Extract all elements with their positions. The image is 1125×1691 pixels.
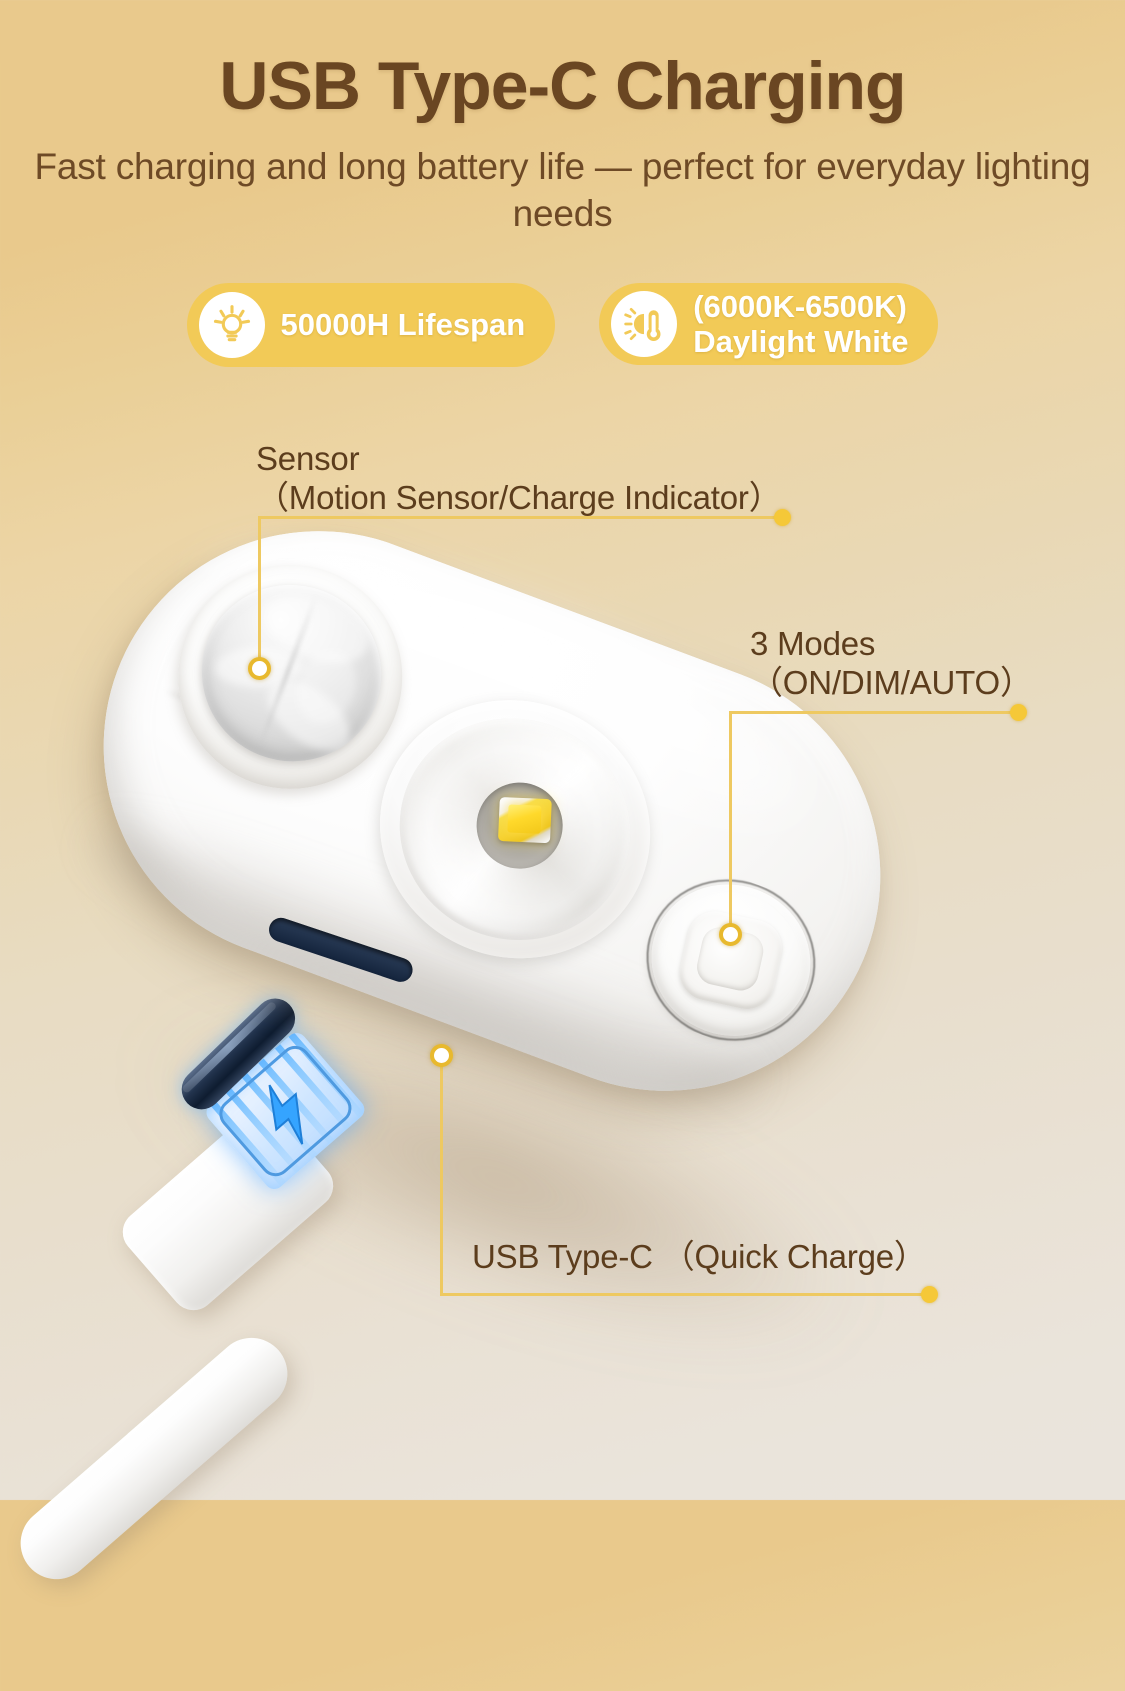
- callout-modes-end-dot: [1010, 704, 1027, 721]
- callout-modes-label: 3 Modes （ON/DIM/AUTO）: [750, 625, 1033, 702]
- cable-cord: [6, 1310, 401, 1691]
- page-subtitle: Fast charging and long battery life — pe…: [0, 144, 1125, 237]
- lightbulb-icon: [199, 292, 265, 358]
- badge-lifespan: 50000H Lifespan: [187, 283, 556, 367]
- cable-cord-segment: [6, 1323, 302, 1594]
- callout-usbc-label: USB Type-C （Quick Charge）: [472, 1238, 927, 1277]
- callout-sensor-marker: [248, 657, 271, 680]
- page-title: USB Type-C Charging: [0, 0, 1125, 120]
- callout-sensor-end-dot: [774, 509, 791, 526]
- badge-lifespan-label: 50000H Lifespan: [281, 307, 526, 342]
- sun-thermometer-icon: [611, 291, 677, 357]
- callout-modes-marker: [719, 923, 742, 946]
- callout-sensor-label: Sensor （Motion Sensor/Charge Indicator）: [256, 440, 782, 517]
- header: USB Type-C Charging Fast charging and lo…: [0, 0, 1125, 237]
- badge-color-temperature: (6000K-6500K) Daylight White: [599, 283, 938, 365]
- smd-led-chip: [498, 797, 552, 843]
- badge-color-temperature-label: (6000K-6500K) Daylight White: [693, 289, 908, 359]
- feature-badge-row: 50000H Lifespan (6000K-6500K) Daylight W…: [0, 283, 1125, 367]
- callout-usbc-marker: [430, 1044, 453, 1067]
- callout-usbc-end-dot: [921, 1286, 938, 1303]
